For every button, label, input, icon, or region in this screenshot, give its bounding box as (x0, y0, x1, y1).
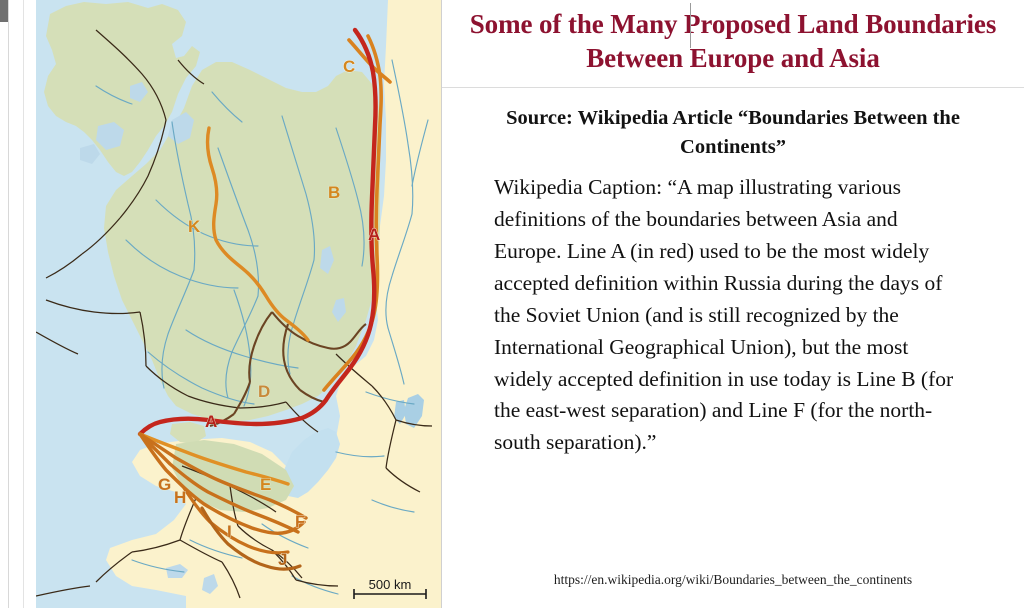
text-cursor-caret (690, 3, 691, 48)
map-label-E: E (260, 475, 271, 494)
title-block: Some of the Many Proposed Land Boundarie… (442, 0, 1024, 88)
screenshot-root: C B A K D A G E H F I J 500 km (0, 0, 1024, 608)
map-label-B: B (328, 183, 340, 202)
source-url-link[interactable]: https://en.wikipedia.org/wiki/Boundaries… (442, 572, 1024, 588)
source-attribution[interactable]: Source: Wikipedia Article “Boundaries Be… (488, 104, 978, 162)
map-label-D: D (258, 382, 270, 401)
window-chrome-bar (0, 0, 8, 22)
map-label-C: C (343, 57, 355, 76)
scale-bar-label: 500 km (369, 577, 412, 592)
map-label-H: H (174, 488, 186, 507)
map-label-K: K (188, 217, 201, 236)
map-label-J: J (278, 550, 287, 569)
wikipedia-caption-text[interactable]: Wikipedia Caption: “A map illustrating v… (494, 172, 954, 459)
document-margin-rule (23, 0, 24, 608)
text-panel: Some of the Many Proposed Land Boundarie… (442, 0, 1024, 608)
map-label-A-north: A (368, 225, 380, 244)
map-image: C B A K D A G E H F I J 500 km (36, 0, 441, 608)
map-label-A-south: A (205, 412, 217, 431)
map-label-F: F (295, 512, 305, 531)
page-title[interactable]: Some of the Many Proposed Land Boundarie… (442, 0, 1024, 76)
map-label-I: I (227, 522, 232, 541)
map-label-G: G (158, 475, 171, 494)
